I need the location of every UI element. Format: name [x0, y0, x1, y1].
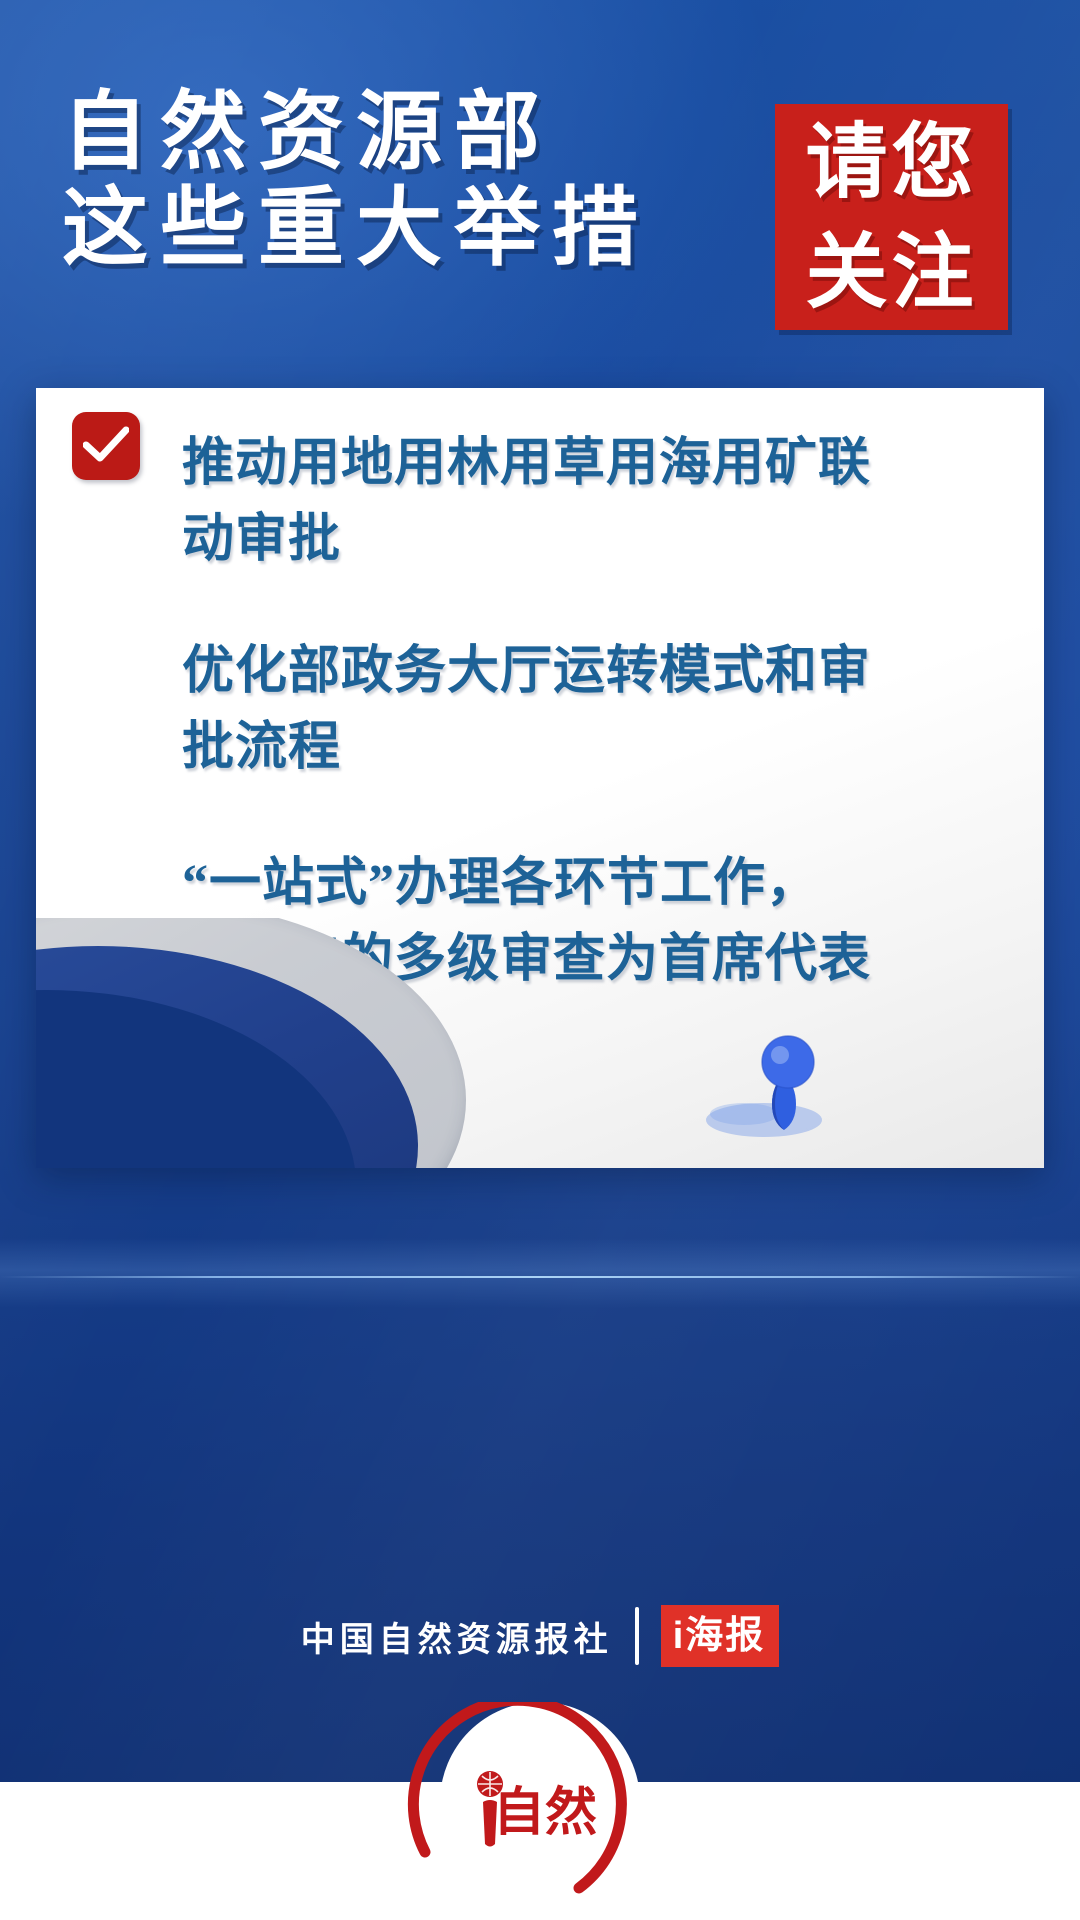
content-card-body: 推动用地用林用草用海用矿联 动审批 优化部政务大厅运转模式和审 批流程 “一站式… [36, 388, 1044, 1168]
lower-glow-band [0, 1238, 1080, 1308]
badge-line-2: 关注 [775, 218, 1008, 328]
publisher-name: 中国自然资源报社 [301, 1612, 613, 1661]
izran-logo: 自然 [383, 1702, 697, 1916]
title-line-1: 自然资源部 [62, 84, 782, 180]
measure-2-line-1: 优化部政务大厅运转模式和审 [182, 643, 871, 700]
measure-3-line-2: 变原来的多级审查为首席代表 [182, 931, 871, 988]
measure-3-line-3: 一级审查 [182, 1007, 394, 1064]
measure-1-line-1: 推动用地用林用草用海用矿联 [182, 435, 871, 492]
content-card: 推动用地用林用草用海用矿联 动审批 优化部政务大厅运转模式和审 批流程 “一站式… [36, 388, 1044, 1168]
measure-paragraph-2: 优化部政务大厅运转模式和审 批流程 [182, 634, 1004, 786]
check-icon [72, 412, 140, 480]
pushpin-icon [700, 1022, 860, 1152]
poster-footer: 中国自然资源报社 i海报 [0, 1586, 1080, 1686]
measure-1-line-2: 动审批 [182, 511, 341, 568]
ihaibao-badge: i海报 [661, 1605, 780, 1667]
poster-header: 自然资源部 这些重大举措 请您 关注 [0, 0, 1080, 360]
title-line-2: 这些重大举措 [62, 180, 782, 276]
logo-text: 自然 [493, 1788, 653, 1840]
vertical-divider [635, 1607, 639, 1665]
attention-badge: 请您 关注 [775, 104, 1008, 330]
badge-line-1: 请您 [775, 104, 1008, 218]
measure-3-line-1: “一站式”办理各环节工作， [182, 855, 819, 912]
measure-2-line-2: 批流程 [182, 719, 341, 776]
horizontal-divider [0, 1276, 1080, 1278]
measure-paragraph-3: “一站式”办理各环节工作， 变原来的多级审查为首席代表 一级审查 [182, 846, 1004, 1074]
page-title: 自然资源部 这些重大举措 [62, 84, 782, 276]
measure-paragraph-1: 推动用地用林用草用海用矿联 动审批 [182, 426, 1004, 578]
poster-root: 自然资源部 这些重大举措 请您 关注 推动用地用林用草用海用矿联 动审批 优化部… [0, 0, 1080, 1920]
